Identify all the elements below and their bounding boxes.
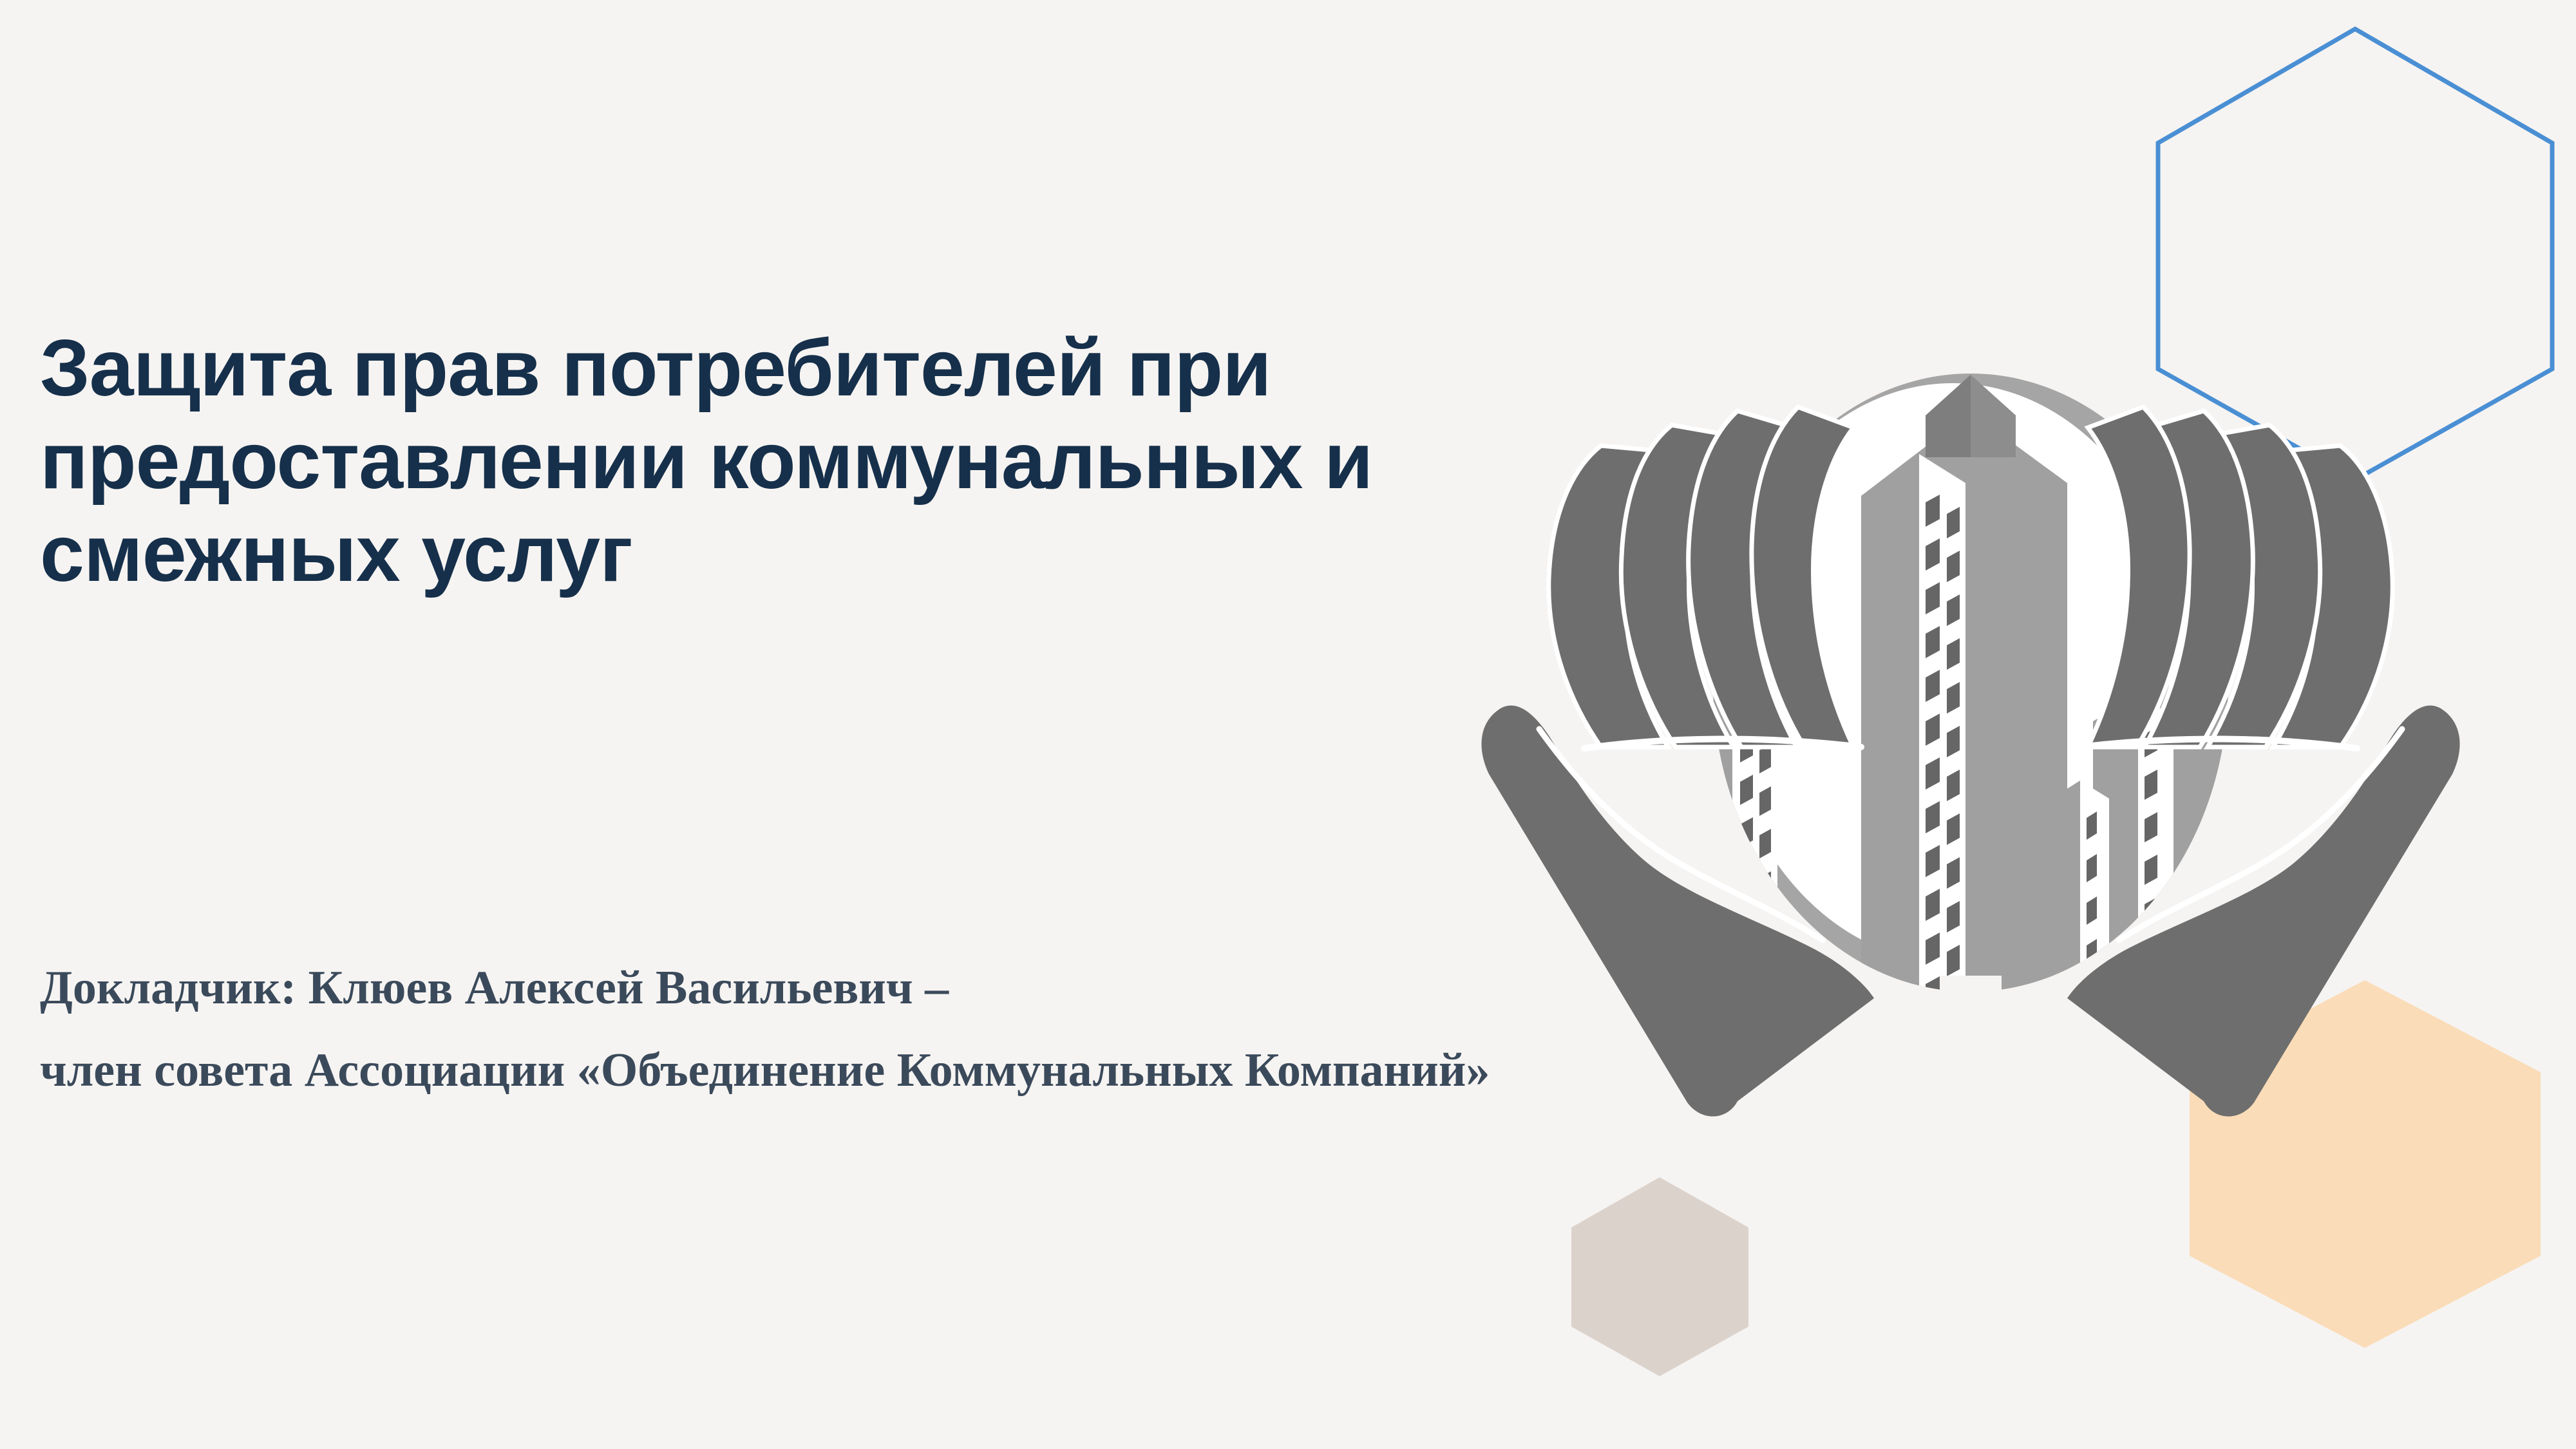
subtitle-line-affiliation: член совета Ассоциации «Объединение Комм… <box>40 1029 1811 1112</box>
title-block: Защита прав потребителей при предоставле… <box>40 322 1598 600</box>
right-hand-fingers <box>2088 407 2392 747</box>
wrist-gap <box>1940 976 2002 1121</box>
page-title: Защита прав потребителей при предоставле… <box>40 322 1598 600</box>
building-center-side <box>1861 454 1919 1043</box>
subtitle-block: Докладчик: Клюев Алексей Васильевич – чл… <box>40 947 1811 1112</box>
presentation-slide: Защита прав потребителей при предоставле… <box>0 0 2576 1449</box>
building-center-tall <box>1861 412 2067 1056</box>
subtitle-line-presenter: Докладчик: Клюев Алексей Васильевич – <box>40 947 1811 1029</box>
hexagon-small-warmgray-icon <box>1571 1177 1748 1376</box>
